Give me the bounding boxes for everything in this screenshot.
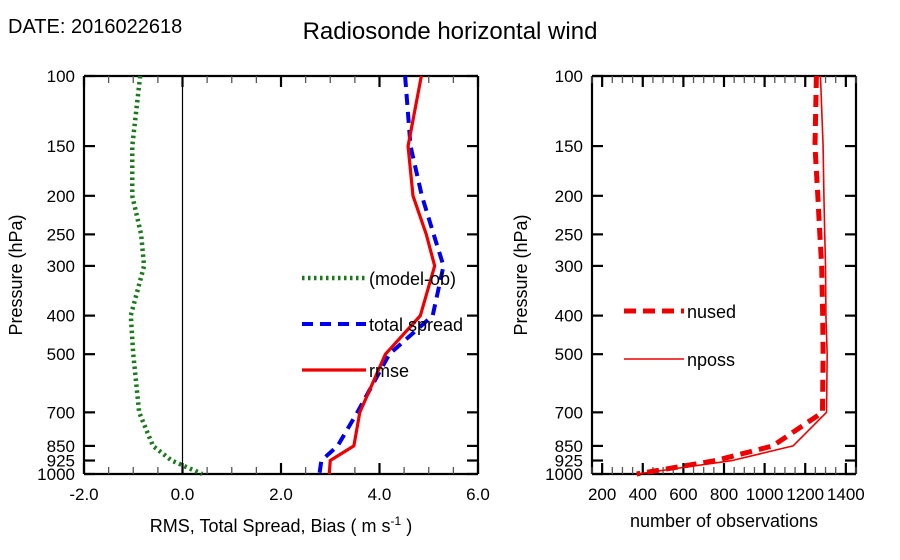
x-axis-title-superscript: -1 [391,514,402,528]
y-tick-label: 100 [555,67,583,86]
series-line [637,76,823,474]
x-tick-label: 1200 [786,485,824,504]
y-tick-label: 150 [47,137,75,156]
y-tick-label: 400 [47,307,75,326]
y-tick-label: 200 [47,187,75,206]
y-tick-label: 500 [47,345,75,364]
legend-label: (model-ob) [369,269,456,289]
x-axis-title-base: RMS, Total Spread, Bias ( m s [150,516,391,536]
x-tick-label: 200 [588,485,616,504]
x-tick-label: 2.0 [269,485,293,504]
y-tick-label: 200 [555,187,583,206]
series-line [131,76,202,474]
series-line [637,76,827,474]
charts-svg: -2.00.02.04.06.0100150200250300400500700… [0,0,900,560]
x-tick-label: 800 [710,485,738,504]
x-tick-label: 1400 [827,485,865,504]
y-tick-label: 500 [555,345,583,364]
right-panel-plot: 2004006008001000120014001001502002503004… [511,67,865,531]
y-tick-label: 700 [47,403,75,422]
y-tick-label: 300 [47,257,75,276]
x-tick-label: 600 [669,485,697,504]
legend-label: total spread [369,315,463,335]
y-tick-label: 700 [555,403,583,422]
x-tick-label: -2.0 [69,485,98,504]
chart-page: DATE: 2016022618 Radiosonde horizontal w… [0,0,900,560]
x-tick-label: 0.0 [171,485,195,504]
x-tick-label: 4.0 [368,485,392,504]
x-axis-title: number of observations [630,511,818,531]
x-tick-label: 400 [629,485,657,504]
x-axis-title: RMS, Total Spread, Bias ( m s-1 ) [150,514,412,536]
y-tick-label: 400 [555,307,583,326]
y-tick-label: 1000 [37,465,75,484]
y-tick-label: 100 [47,67,75,86]
x-axis-title-tail: ) [401,516,412,536]
left-panel-plot: -2.00.02.04.06.0100150200250300400500700… [6,67,490,536]
y-axis-title: Pressure (hPa) [6,214,26,335]
x-tick-label: 1000 [746,485,784,504]
y-tick-label: 1000 [545,465,583,484]
y-tick-label: 250 [47,225,75,244]
y-tick-label: 150 [555,137,583,156]
x-tick-label: 6.0 [466,485,490,504]
y-tick-label: 300 [555,257,583,276]
y-axis-title: Pressure (hPa) [511,214,531,335]
legend-label: nused [687,302,736,322]
y-tick-label: 250 [555,225,583,244]
legend-label: nposs [687,350,735,370]
legend-label: rmse [369,361,409,381]
